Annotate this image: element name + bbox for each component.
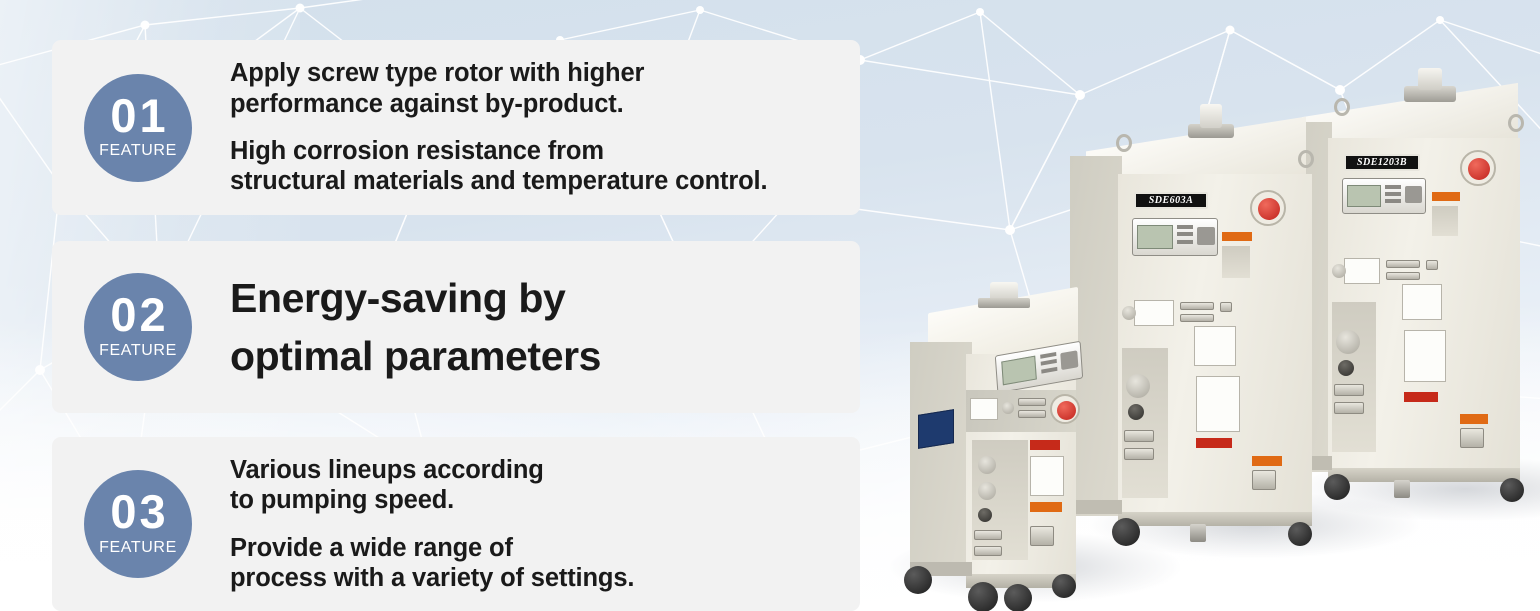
panel-button[interactable] xyxy=(1041,359,1057,366)
control-panel[interactable] xyxy=(1342,178,1426,214)
feature-badge-label: FEATURE xyxy=(99,343,177,359)
gauge xyxy=(1336,330,1360,354)
caster-wheel xyxy=(1052,574,1076,598)
caster-wheel xyxy=(968,582,998,611)
caster-wheel xyxy=(1004,584,1032,611)
feature-text-block-01: Apply screw type rotor with higher perfo… xyxy=(230,58,781,196)
valve-knob xyxy=(1338,360,1354,376)
feature-number: 02 xyxy=(110,293,168,336)
panel-button[interactable] xyxy=(1041,367,1057,374)
panel-dpad[interactable] xyxy=(1405,186,1422,203)
panel-button[interactable] xyxy=(1177,225,1193,229)
fitting xyxy=(1334,402,1364,414)
panel-dpad[interactable] xyxy=(1197,227,1215,245)
emergency-stop-button[interactable] xyxy=(1057,401,1076,420)
feature-text-block-02: Energy-saving by optimal parameters xyxy=(230,269,615,385)
panel-button[interactable] xyxy=(1040,352,1056,359)
fitting xyxy=(1334,384,1364,396)
spec-label xyxy=(1194,326,1236,366)
warning-label xyxy=(1460,414,1488,424)
gauge-port xyxy=(1332,264,1346,278)
power-inlet xyxy=(1030,526,1054,546)
panel-recess xyxy=(1222,246,1250,278)
connector xyxy=(1180,302,1214,310)
diagram-label xyxy=(1196,376,1240,432)
valve-knob xyxy=(978,508,992,522)
feature-paragraph: Various lineups according to pumping spe… xyxy=(230,455,634,516)
feature-card-01: 01 FEATURE Apply screw type rotor with h… xyxy=(52,40,860,215)
feature-number: 03 xyxy=(110,490,168,533)
emergency-stop-button[interactable] xyxy=(1468,158,1490,180)
warning-label xyxy=(1030,502,1062,512)
connector xyxy=(1386,260,1420,268)
inlet-port xyxy=(1418,68,1442,90)
pump-nameplate: SDE603A xyxy=(1134,192,1208,209)
feature-card-02: 02 FEATURE Energy-saving by optimal para… xyxy=(52,241,860,413)
fitting xyxy=(974,530,1002,540)
panel-dpad[interactable] xyxy=(1060,350,1078,370)
power-inlet xyxy=(1252,470,1276,490)
caution-label xyxy=(1404,392,1438,402)
warning-label xyxy=(1252,456,1282,466)
feature-card-list: 01 FEATURE Apply screw type rotor with h… xyxy=(52,40,860,611)
product-photo: SDE1203B xyxy=(880,92,1540,611)
emergency-stop-button[interactable] xyxy=(1258,198,1280,220)
lcd-display xyxy=(1347,185,1381,207)
pump-unit-front xyxy=(900,290,1160,600)
eyebolt-icon xyxy=(1334,98,1350,116)
feature-badge-01: 01 FEATURE xyxy=(84,74,192,182)
feature-badge-label: FEATURE xyxy=(99,540,177,556)
emergency-stop-ring xyxy=(1050,394,1080,424)
pump-blue-nameplate xyxy=(918,409,954,449)
leveling-foot xyxy=(1394,480,1410,498)
spec-label xyxy=(1030,456,1064,496)
gauge xyxy=(978,482,996,500)
inlet-port xyxy=(1200,104,1222,128)
eyebolt-icon xyxy=(1116,134,1132,152)
lcd-display xyxy=(1001,356,1037,386)
inlet-flange xyxy=(978,298,1030,308)
lcd-display xyxy=(1137,225,1173,249)
feature-badge-02: 02 FEATURE xyxy=(84,273,192,381)
pump-base xyxy=(1328,468,1520,482)
spec-label xyxy=(970,398,998,420)
feature-paragraph: Provide a wide range of process with a v… xyxy=(230,533,634,594)
feature-headline: Energy-saving by optimal parameters xyxy=(230,269,601,385)
panel-button[interactable] xyxy=(1385,185,1401,189)
caster-wheel xyxy=(904,566,932,594)
caution-label xyxy=(1196,438,1232,448)
panel-button[interactable] xyxy=(1177,240,1193,244)
feature-paragraph: Apply screw type rotor with higher perfo… xyxy=(230,58,767,119)
spec-label xyxy=(1344,258,1380,284)
pump-nameplate: SDE1203B xyxy=(1344,154,1420,171)
connector xyxy=(1018,398,1046,406)
feature-badge-03: 03 FEATURE xyxy=(84,470,192,578)
eyebolt-icon xyxy=(1508,114,1524,132)
feature-number: 01 xyxy=(110,94,168,137)
connector xyxy=(1180,314,1214,322)
lower-recess xyxy=(1332,302,1376,452)
feature-card-03: 03 FEATURE Various lineups according to … xyxy=(52,437,860,611)
emergency-stop-ring xyxy=(1250,190,1286,226)
gauge-port xyxy=(1002,402,1014,414)
panel-button[interactable] xyxy=(1385,192,1401,196)
control-panel[interactable] xyxy=(1132,218,1218,256)
feature-text-block-03: Various lineups according to pumping spe… xyxy=(230,455,648,593)
pump-side-face xyxy=(910,342,972,570)
panel-button[interactable] xyxy=(1385,199,1401,203)
spec-label xyxy=(1402,284,1442,320)
gauge xyxy=(978,456,996,474)
feature-badge-label: FEATURE xyxy=(99,143,177,159)
panel-button[interactable] xyxy=(1177,232,1193,236)
warning-label xyxy=(1432,192,1460,201)
diagram-label xyxy=(1404,330,1446,382)
power-inlet xyxy=(1460,428,1484,448)
caster-wheel xyxy=(1288,522,1312,546)
panel-recess xyxy=(1432,206,1458,236)
fitting xyxy=(974,546,1002,556)
emergency-stop-ring xyxy=(1460,150,1496,186)
eyebolt-icon xyxy=(1298,150,1314,168)
leveling-foot xyxy=(1190,524,1206,542)
connector xyxy=(1220,302,1232,312)
feature-paragraph: High corrosion resistance from structura… xyxy=(230,136,767,197)
caution-label xyxy=(1030,440,1060,450)
connector xyxy=(1386,272,1420,280)
connector xyxy=(1426,260,1438,270)
warning-label xyxy=(1222,232,1252,241)
caster-wheel xyxy=(1500,478,1524,502)
connector xyxy=(1018,410,1046,418)
